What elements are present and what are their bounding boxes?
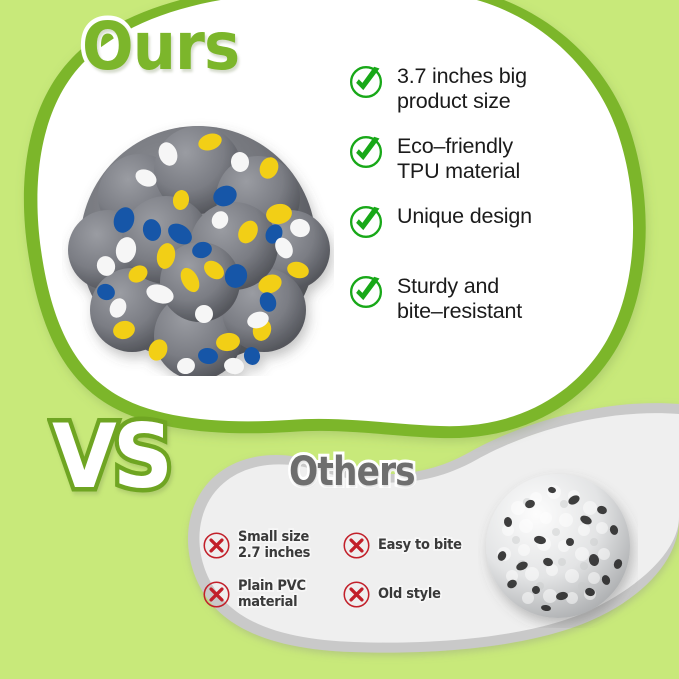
x-icon — [202, 531, 231, 560]
feature-text: Unique design — [397, 202, 532, 229]
ours-title: Ours — [82, 14, 239, 80]
vs-label: VS — [52, 413, 169, 501]
drawback-line: Easy to bite — [378, 538, 462, 554]
feature-item: 3.7 inches big product size — [348, 62, 574, 118]
drawback-text: Small size 2.7 inches — [238, 530, 310, 561]
ours-product-image — [62, 104, 334, 376]
drawback-text: Easy to bite — [378, 538, 462, 554]
drawback-line: Plain PVC — [238, 579, 306, 595]
feature-line: bite–resistant — [397, 299, 522, 324]
check-icon — [348, 134, 384, 170]
check-icon — [348, 204, 384, 240]
comparison-infographic: Ours — [0, 0, 679, 679]
others-product-image — [478, 468, 638, 628]
feature-line: Sturdy and — [397, 274, 522, 299]
feature-line: Unique design — [397, 204, 532, 229]
ours-feature-list: 3.7 inches big product size Eco–friendly… — [348, 62, 574, 342]
feature-line: Eco–friendly — [397, 134, 520, 159]
drawback-line: 2.7 inches — [238, 546, 310, 562]
x-icon — [342, 580, 371, 609]
drawback-line: Old style — [378, 587, 441, 603]
feature-text: 3.7 inches big product size — [397, 62, 527, 115]
drawback-item: Plain PVC material — [202, 570, 342, 619]
others-title: Others — [289, 452, 415, 492]
feature-item: Sturdy and bite–resistant — [348, 272, 574, 328]
x-icon — [342, 531, 371, 560]
check-icon — [348, 64, 384, 100]
feature-line: 3.7 inches big — [397, 64, 527, 89]
x-icon — [202, 580, 231, 609]
drawback-item: Small size 2.7 inches — [202, 521, 342, 570]
drawback-line: material — [238, 595, 306, 611]
feature-item: Unique design — [348, 202, 574, 258]
drawback-line: Small size — [238, 530, 310, 546]
feature-text: Sturdy and bite–resistant — [397, 272, 522, 325]
others-drawback-list: Small size 2.7 inches Easy to bite Plain… — [202, 521, 492, 619]
feature-item: Eco–friendly TPU material — [348, 132, 574, 188]
feature-line: product size — [397, 89, 527, 114]
drawback-text: Plain PVC material — [238, 579, 306, 610]
feature-line: TPU material — [397, 159, 520, 184]
drawback-text: Old style — [378, 587, 441, 603]
check-icon — [348, 274, 384, 310]
feature-text: Eco–friendly TPU material — [397, 132, 520, 185]
drawback-item: Old style — [342, 570, 492, 619]
drawback-item: Easy to bite — [342, 521, 492, 570]
